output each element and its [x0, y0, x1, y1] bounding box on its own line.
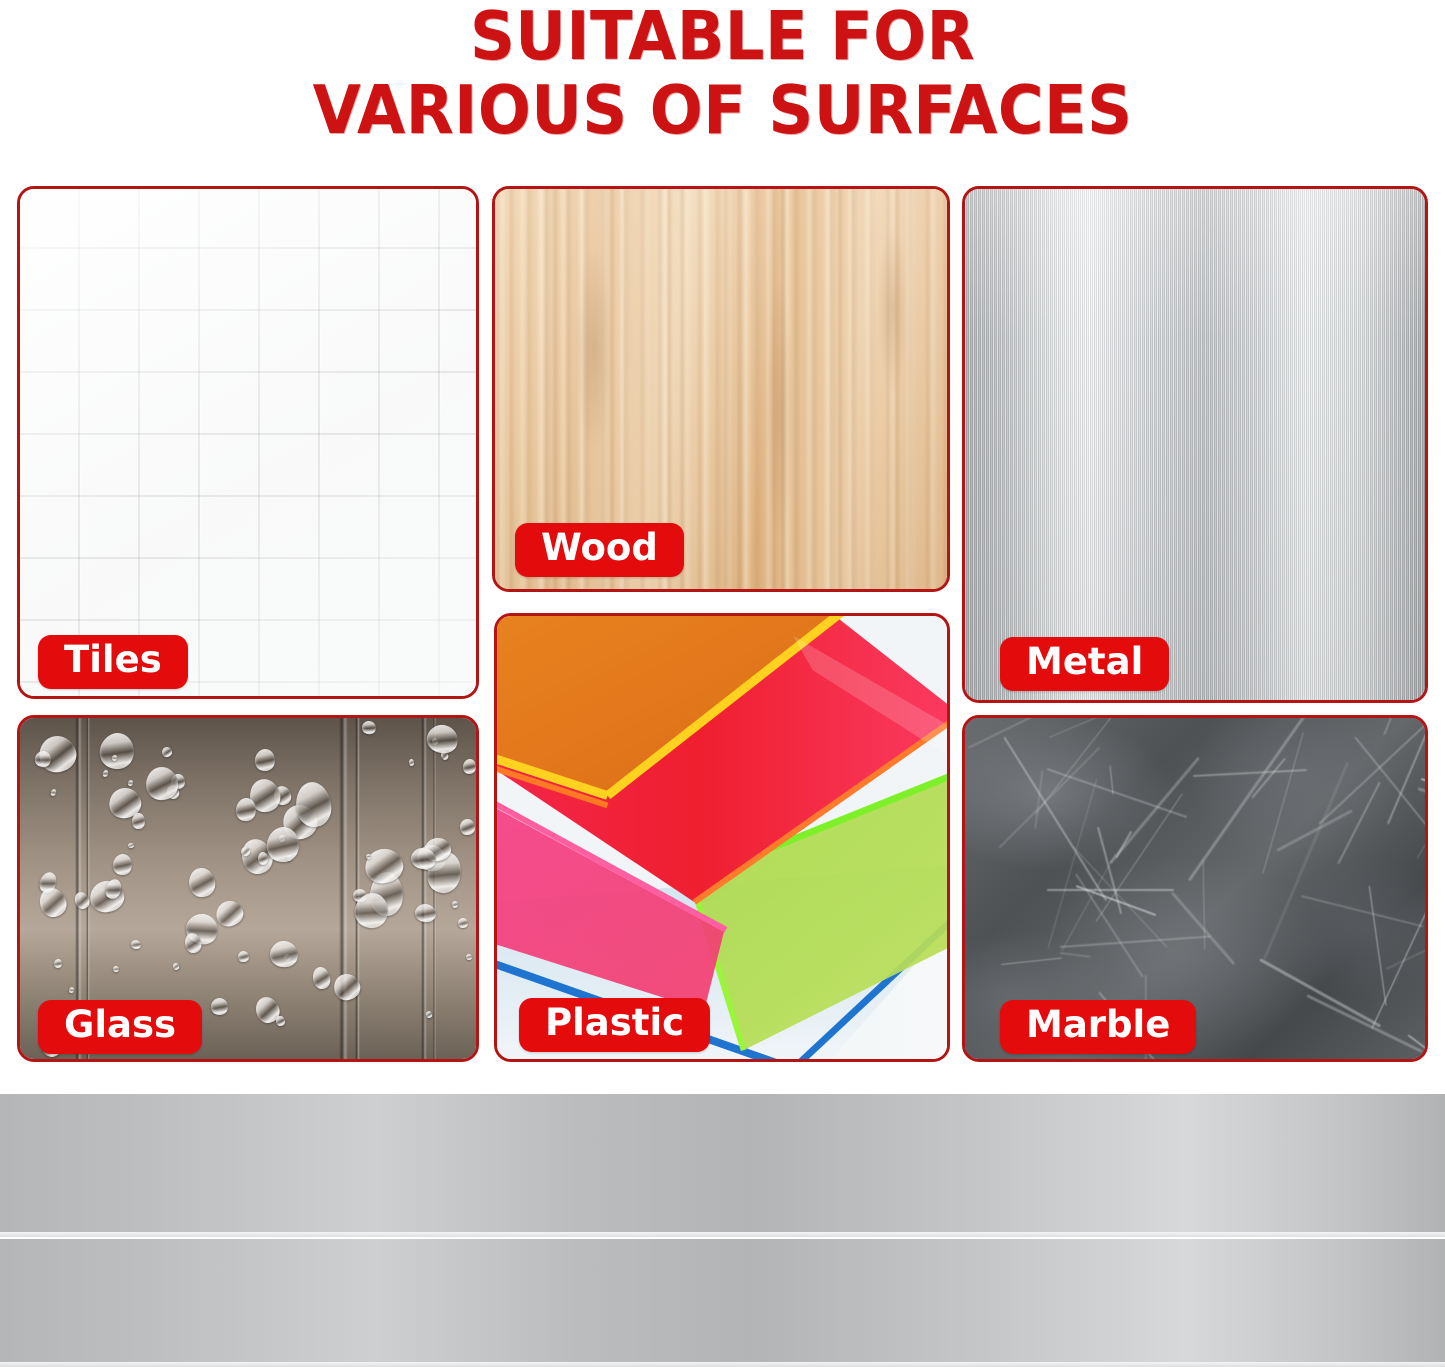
- water-droplet: [112, 965, 119, 972]
- surface-label-plastic: Plastic: [519, 998, 710, 1052]
- marble-vein: [1306, 994, 1422, 1053]
- marble-vein: [1109, 757, 1200, 864]
- water-droplet: [127, 779, 134, 787]
- marble-vein: [1047, 889, 1174, 891]
- shelf-bar-upper: [0, 1094, 1445, 1234]
- tiles-texture: [20, 189, 476, 696]
- surface-label-marble: Marble: [1000, 1000, 1196, 1054]
- page-title-line-1: SUITABLE FOR: [51, 4, 1395, 70]
- marble-vein: [1049, 718, 1151, 738]
- water-droplet: [459, 819, 474, 835]
- marble-vein: [1263, 762, 1349, 960]
- water-droplet: [213, 897, 247, 930]
- surface-label-metal: Metal: [1000, 637, 1169, 691]
- marble-vein: [1337, 781, 1380, 864]
- surface-label-glass: Glass: [38, 1000, 202, 1054]
- marble-vein: [1262, 732, 1304, 874]
- wall-shelf-strip: [0, 1094, 1445, 1367]
- surface-card-tiles: [17, 186, 479, 699]
- surface-card-metal: [962, 186, 1428, 703]
- page-title-line-2: VARIOUS OF SURFACES: [51, 78, 1395, 144]
- marble-vein: [1060, 935, 1211, 947]
- marble-vein: [1421, 778, 1425, 814]
- water-droplet: [269, 939, 300, 968]
- water-droplet: [97, 730, 138, 772]
- water-droplet: [311, 965, 332, 990]
- surface-label-wood: Wood: [515, 523, 684, 577]
- marble-vein: [1387, 718, 1425, 825]
- acrylic-sheets-illustration: [497, 616, 947, 1059]
- plastic-texture: [497, 616, 947, 1059]
- glass-water-streak: [339, 718, 348, 1059]
- water-droplet: [458, 918, 468, 928]
- marble-vein: [1301, 895, 1424, 928]
- water-droplet: [112, 852, 134, 875]
- water-droplet: [360, 719, 376, 735]
- page-title: SUITABLE FOR VARIOUS OF SURFACES: [0, 0, 1445, 170]
- marble-vein: [1368, 886, 1386, 1006]
- marble-vein: [1371, 838, 1425, 1029]
- water-droplet: [130, 939, 142, 949]
- water-droplet: [50, 788, 57, 796]
- water-droplet: [161, 745, 173, 757]
- marble-vein: [1096, 794, 1183, 922]
- water-droplet: [253, 748, 275, 772]
- water-droplet: [276, 1015, 286, 1026]
- water-droplet: [172, 963, 179, 971]
- marble-vein: [1003, 737, 1107, 902]
- water-droplet: [102, 769, 109, 777]
- water-droplet: [409, 759, 414, 766]
- water-droplet: [234, 797, 257, 822]
- water-droplet: [452, 900, 459, 907]
- water-droplet: [187, 866, 217, 899]
- water-droplet: [68, 986, 75, 994]
- water-droplet: [238, 950, 250, 962]
- marble-vein: [1276, 809, 1352, 851]
- marble-vein: [1001, 958, 1062, 965]
- water-droplet: [424, 721, 461, 756]
- marble-vein: [1073, 846, 1168, 948]
- shelf-bar-lower: [0, 1239, 1445, 1367]
- water-droplet: [466, 954, 472, 961]
- surface-card-plastic: [494, 613, 950, 1062]
- metal-texture: [965, 189, 1425, 700]
- marble-vein: [998, 747, 1099, 848]
- marble-vein: [1188, 718, 1306, 881]
- glass-water-streak: [421, 718, 427, 1059]
- marble-vein: [1418, 787, 1425, 834]
- water-droplet: [462, 758, 476, 775]
- surface-label-tiles: Tiles: [38, 635, 188, 689]
- marble-vein: [1259, 958, 1381, 1027]
- water-droplet: [53, 958, 63, 969]
- water-droplet: [210, 997, 230, 1017]
- water-droplet: [258, 852, 268, 865]
- marble-vein: [1035, 718, 1168, 814]
- marble-vein: [1383, 718, 1425, 735]
- marble-vein: [1060, 952, 1091, 958]
- water-droplet: [132, 813, 145, 830]
- water-droplet: [127, 843, 133, 849]
